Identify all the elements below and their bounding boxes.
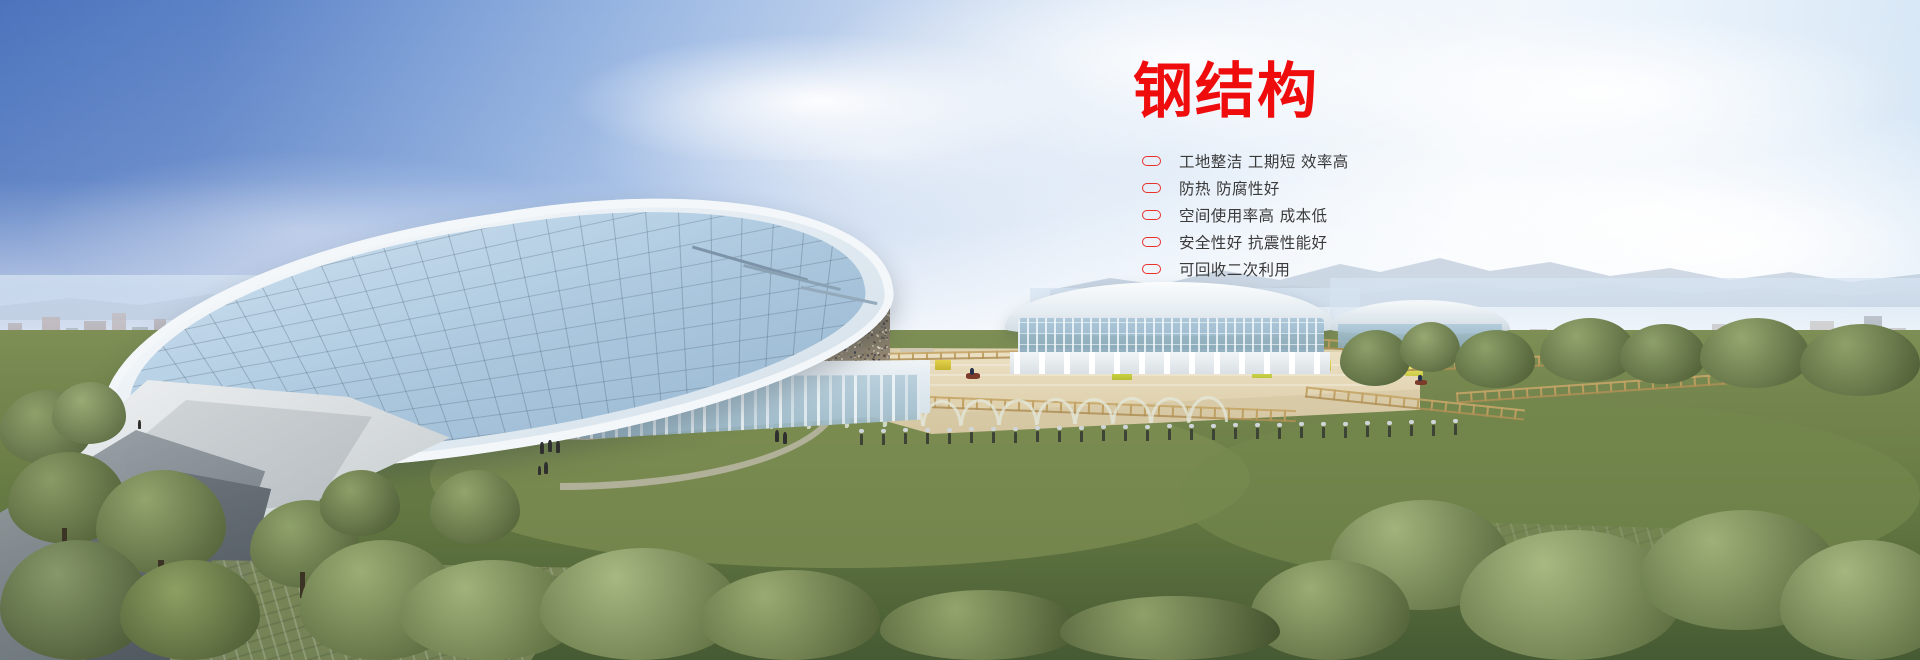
crowd-dot xyxy=(889,428,890,430)
crowd-dot xyxy=(753,431,755,432)
crowd-dot xyxy=(847,424,849,426)
crowd-dot xyxy=(806,431,808,432)
crowd-dot xyxy=(885,332,887,334)
crowd-dot xyxy=(751,432,753,433)
crowd-dot xyxy=(822,429,824,431)
crowd-dot xyxy=(889,329,890,331)
crowd-dot xyxy=(796,431,798,432)
crowd-dot xyxy=(836,427,838,429)
crowd-dot xyxy=(854,352,856,354)
crowd-dot xyxy=(839,429,841,431)
crowd-dot xyxy=(888,424,890,426)
crowd-dot xyxy=(857,428,859,430)
crowd-dot xyxy=(839,427,841,429)
crowd-dot xyxy=(868,423,870,425)
crowd-dot xyxy=(763,430,765,432)
crowd-dot xyxy=(858,428,860,430)
crowd-dot xyxy=(795,430,797,432)
crowd-dot xyxy=(805,430,807,432)
crowd-dot xyxy=(886,337,888,339)
crowd-dot xyxy=(841,358,843,360)
crowd-dot xyxy=(887,314,889,316)
crowd-dot xyxy=(841,353,843,355)
crowd-dot xyxy=(883,355,885,357)
crowd-dot xyxy=(847,431,849,432)
crowd-dot xyxy=(873,350,875,352)
crowd-dot xyxy=(881,336,883,338)
crowd-dot xyxy=(761,431,763,432)
crowd-dot xyxy=(879,331,881,333)
crowd-dot xyxy=(867,355,869,357)
crowd-dot xyxy=(867,337,869,339)
crowd-dot xyxy=(832,359,834,361)
crowd-dot xyxy=(825,426,827,428)
crowd-dot xyxy=(850,428,852,430)
crowd-dot xyxy=(811,426,813,428)
crowd-dot xyxy=(887,431,889,432)
crowd-dot xyxy=(799,429,801,431)
crowd-dot xyxy=(841,430,843,432)
crowd-dot xyxy=(761,431,763,432)
crowd-dot xyxy=(889,315,890,317)
crowd-dot xyxy=(809,431,811,432)
crowd-dot xyxy=(840,430,842,432)
crowd-dot xyxy=(867,359,869,361)
crowd-dot xyxy=(860,431,862,432)
crowd-dot xyxy=(850,356,852,358)
crowd-dot xyxy=(879,340,881,342)
crowd-dot xyxy=(837,427,839,429)
crowd-dot xyxy=(814,426,816,428)
crowd-dot xyxy=(837,427,839,429)
crowd-dot xyxy=(854,423,856,425)
crowd-dot xyxy=(739,430,741,432)
crowd-dot xyxy=(868,348,870,350)
crowd-dot xyxy=(875,429,877,431)
crowd-dot xyxy=(869,425,871,427)
crowd-dot xyxy=(799,427,801,429)
crowd-dot xyxy=(868,431,870,433)
crowd-dot xyxy=(838,355,840,357)
crowd-dot xyxy=(832,357,834,359)
crowd-dot xyxy=(872,345,874,347)
crowd-dot xyxy=(871,353,873,355)
crowd-dot xyxy=(883,337,885,339)
crowd-dot xyxy=(853,427,855,429)
crowd-dot xyxy=(797,428,799,430)
crowd-dot xyxy=(879,358,881,360)
crowd-dot xyxy=(886,320,888,322)
crowd-dot xyxy=(859,341,861,343)
crowd-dot xyxy=(885,329,887,331)
crowd-dot xyxy=(833,425,835,427)
hero-banner: 钢结构 工地整洁 工期短 效率高 防热 防腐性好 空间使用率高 成本低 安全性好… xyxy=(0,0,1920,660)
crowd-dot xyxy=(850,426,852,428)
crowd-dot xyxy=(798,429,800,431)
crowd-dot xyxy=(881,326,883,328)
crowd-dot xyxy=(870,428,872,430)
crowd-dot xyxy=(863,429,865,431)
crowd-dot xyxy=(887,427,889,429)
crowd-dot xyxy=(876,334,878,336)
crowd-dot xyxy=(883,428,885,430)
crowd-dot xyxy=(871,334,873,336)
crowd-dot xyxy=(835,357,837,359)
crowd-dot xyxy=(811,431,813,432)
crowd-dot xyxy=(820,427,822,429)
crowd-dot xyxy=(881,349,883,351)
crowd-dot xyxy=(888,353,890,355)
crowd-dot xyxy=(868,429,870,431)
crowd-dot xyxy=(870,423,872,425)
crowd-dot xyxy=(836,431,838,432)
crowd-dot xyxy=(870,423,872,425)
crowd-dot xyxy=(874,354,876,356)
crowd-dot xyxy=(883,322,885,324)
crowd-dot xyxy=(878,424,880,426)
crowd-dot xyxy=(888,422,890,424)
crowd-dot xyxy=(813,427,815,429)
crowd-dot xyxy=(845,431,847,432)
crowd-dot xyxy=(784,428,786,430)
crowd-dot xyxy=(870,429,872,431)
crowd-dot xyxy=(830,429,832,431)
crowd-dot xyxy=(871,331,873,333)
crowd-dot xyxy=(879,429,881,431)
crowd-dot xyxy=(886,357,888,359)
crowd-dot xyxy=(753,431,755,432)
